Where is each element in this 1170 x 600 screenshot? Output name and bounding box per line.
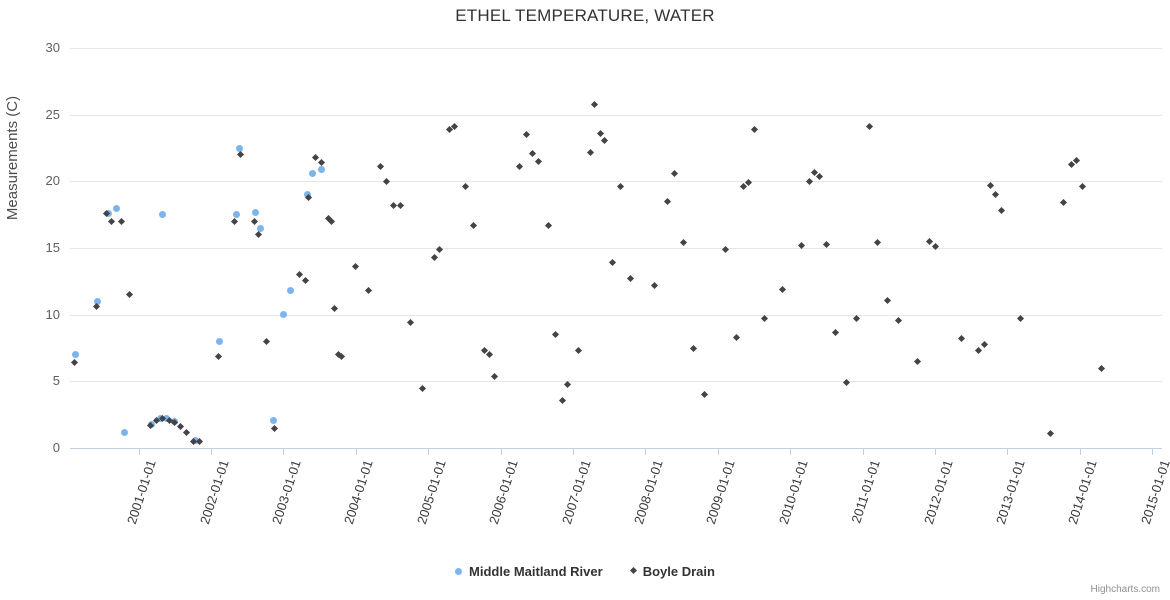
x-tick-label: 2015-01-01 (1138, 458, 1170, 526)
data-point[interactable] (470, 222, 477, 229)
y-tick-label: 20 (20, 173, 60, 188)
chart-legend: Middle Maitland RiverBoyle Drain (0, 562, 1170, 579)
data-point[interactable] (113, 205, 120, 212)
data-point[interactable] (750, 126, 757, 133)
data-point[interactable] (252, 209, 259, 216)
x-tick-mark (501, 448, 502, 455)
data-point[interactable] (545, 222, 552, 229)
data-point[interactable] (832, 328, 839, 335)
x-tick-label: 2012-01-01 (920, 458, 955, 526)
data-point[interactable] (255, 231, 262, 238)
data-point[interactable] (312, 154, 319, 161)
chart-title: ETHEL TEMPERATURE, WATER (0, 6, 1170, 26)
data-point[interactable] (419, 384, 426, 391)
data-point[interactable] (779, 286, 786, 293)
scatter-chart: ETHEL TEMPERATURE, WATER Measurements (C… (0, 0, 1170, 600)
data-point[interactable] (761, 315, 768, 322)
legend-diamond-icon (630, 567, 637, 574)
data-point[interactable] (287, 287, 294, 294)
data-point[interactable] (485, 351, 492, 358)
y-tick-label: 0 (20, 440, 60, 455)
data-point[interactable] (1079, 183, 1086, 190)
x-tick-label: 2003-01-01 (269, 458, 304, 526)
y-tick-label: 5 (20, 373, 60, 388)
data-point[interactable] (328, 218, 335, 225)
data-point[interactable] (690, 344, 697, 351)
x-tick-mark (645, 448, 646, 455)
data-point[interactable] (296, 271, 303, 278)
data-point[interactable] (183, 428, 190, 435)
highcharts-credits[interactable]: Highcharts.com (1091, 584, 1160, 595)
legend-label: Middle Maitland River (469, 564, 603, 579)
data-point[interactable] (627, 275, 634, 282)
data-point[interactable] (884, 296, 891, 303)
data-point[interactable] (407, 319, 414, 326)
x-tick-mark (1152, 448, 1153, 455)
x-tick-label: 2005-01-01 (414, 458, 449, 526)
data-point[interactable] (866, 123, 873, 130)
data-point[interactable] (874, 239, 881, 246)
data-point[interactable] (998, 207, 1005, 214)
data-point[interactable] (552, 331, 559, 338)
data-point[interactable] (1098, 364, 1105, 371)
data-point[interactable] (263, 338, 270, 345)
data-point[interactable] (591, 100, 598, 107)
data-point[interactable] (377, 163, 384, 170)
data-point[interactable] (159, 211, 166, 218)
data-point[interactable] (981, 340, 988, 347)
data-point[interactable] (177, 423, 184, 430)
legend-circle-icon (455, 568, 462, 575)
legend-item-middle-maitland-river[interactable]: Middle Maitland River (455, 563, 603, 579)
data-point[interactable] (914, 358, 921, 365)
data-point[interactable] (843, 379, 850, 386)
data-point[interactable] (71, 359, 78, 366)
x-tick-label: 2007-01-01 (558, 458, 593, 526)
x-tick-mark (573, 448, 574, 455)
data-point[interactable] (280, 311, 287, 318)
x-tick-mark (1007, 448, 1008, 455)
data-point[interactable] (397, 202, 404, 209)
data-point[interactable] (680, 239, 687, 246)
data-point[interactable] (958, 335, 965, 342)
data-point[interactable] (805, 178, 812, 185)
data-point[interactable] (609, 259, 616, 266)
data-point[interactable] (516, 163, 523, 170)
gridline (70, 315, 1162, 316)
data-point[interactable] (108, 218, 115, 225)
data-point[interactable] (926, 238, 933, 245)
gridline (70, 48, 1162, 49)
data-point[interactable] (535, 158, 542, 165)
data-point[interactable] (302, 276, 309, 283)
data-point[interactable] (196, 438, 203, 445)
y-tick-label: 15 (20, 240, 60, 255)
x-tick-label: 2009-01-01 (703, 458, 738, 526)
data-point[interactable] (664, 198, 671, 205)
data-point[interactable] (231, 218, 238, 225)
data-point[interactable] (529, 150, 536, 157)
data-point[interactable] (559, 396, 566, 403)
x-tick-mark (428, 448, 429, 455)
data-point[interactable] (271, 424, 278, 431)
y-tick-label: 30 (20, 40, 60, 55)
x-tick-label: 2004-01-01 (341, 458, 376, 526)
x-tick-mark (790, 448, 791, 455)
data-point[interactable] (975, 347, 982, 354)
gridline (70, 181, 1162, 182)
data-point[interactable] (430, 254, 437, 261)
data-point[interactable] (462, 183, 469, 190)
y-tick-label: 25 (20, 107, 60, 122)
data-point[interactable] (72, 351, 79, 358)
x-tick-label: 2001-01-01 (124, 458, 159, 526)
data-point[interactable] (491, 372, 498, 379)
x-axis-line (70, 448, 1162, 449)
data-point[interactable] (121, 429, 128, 436)
data-point[interactable] (318, 159, 325, 166)
data-point[interactable] (118, 218, 125, 225)
x-tick-mark (1080, 448, 1081, 455)
x-tick-mark (139, 448, 140, 455)
data-point[interactable] (309, 170, 316, 177)
x-tick-mark (283, 448, 284, 455)
y-axis-tick-labels: 051015202530 (14, 48, 60, 448)
legend-item-boyle-drain[interactable]: Boyle Drain (631, 563, 715, 579)
x-tick-label: 2010-01-01 (776, 458, 811, 526)
data-point[interactable] (587, 148, 594, 155)
gridline (70, 115, 1162, 116)
x-tick-mark (211, 448, 212, 455)
x-tick-label: 2006-01-01 (486, 458, 521, 526)
x-tick-label: 2011-01-01 (848, 458, 883, 525)
data-point[interactable] (992, 191, 999, 198)
data-point[interactable] (1047, 430, 1054, 437)
data-point[interactable] (1060, 199, 1067, 206)
data-point[interactable] (352, 263, 359, 270)
data-point[interactable] (251, 218, 258, 225)
data-point[interactable] (1073, 156, 1080, 163)
data-point[interactable] (523, 131, 530, 138)
data-point[interactable] (931, 243, 938, 250)
plot-area (70, 48, 1162, 448)
data-point[interactable] (823, 240, 830, 247)
data-point[interactable] (575, 347, 582, 354)
x-tick-mark (356, 448, 357, 455)
data-point[interactable] (216, 338, 223, 345)
gridline (70, 248, 1162, 249)
x-tick-mark (863, 448, 864, 455)
data-point[interactable] (436, 246, 443, 253)
legend-label: Boyle Drain (643, 564, 715, 579)
data-point[interactable] (1017, 315, 1024, 322)
data-point[interactable] (237, 151, 244, 158)
data-point[interactable] (722, 246, 729, 253)
data-point[interactable] (383, 178, 390, 185)
data-point[interactable] (895, 316, 902, 323)
x-tick-label: 2002-01-01 (196, 458, 231, 526)
x-tick-label: 2014-01-01 (1065, 458, 1100, 526)
data-point[interactable] (331, 304, 338, 311)
data-point[interactable] (215, 352, 222, 359)
data-point[interactable] (733, 334, 740, 341)
x-tick-mark (935, 448, 936, 455)
data-point[interactable] (126, 291, 133, 298)
data-point[interactable] (597, 130, 604, 137)
data-point[interactable] (651, 282, 658, 289)
data-point[interactable] (601, 136, 608, 143)
data-point[interactable] (617, 183, 624, 190)
data-point[interactable] (853, 315, 860, 322)
x-tick-mark (718, 448, 719, 455)
x-tick-label: 2008-01-01 (631, 458, 666, 526)
data-point[interactable] (701, 391, 708, 398)
data-point[interactable] (318, 166, 325, 173)
data-point[interactable] (365, 287, 372, 294)
data-point[interactable] (671, 170, 678, 177)
gridline (70, 381, 1162, 382)
x-tick-label: 2013-01-01 (993, 458, 1028, 526)
data-point[interactable] (986, 182, 993, 189)
data-point[interactable] (270, 417, 277, 424)
y-tick-label: 10 (20, 307, 60, 322)
